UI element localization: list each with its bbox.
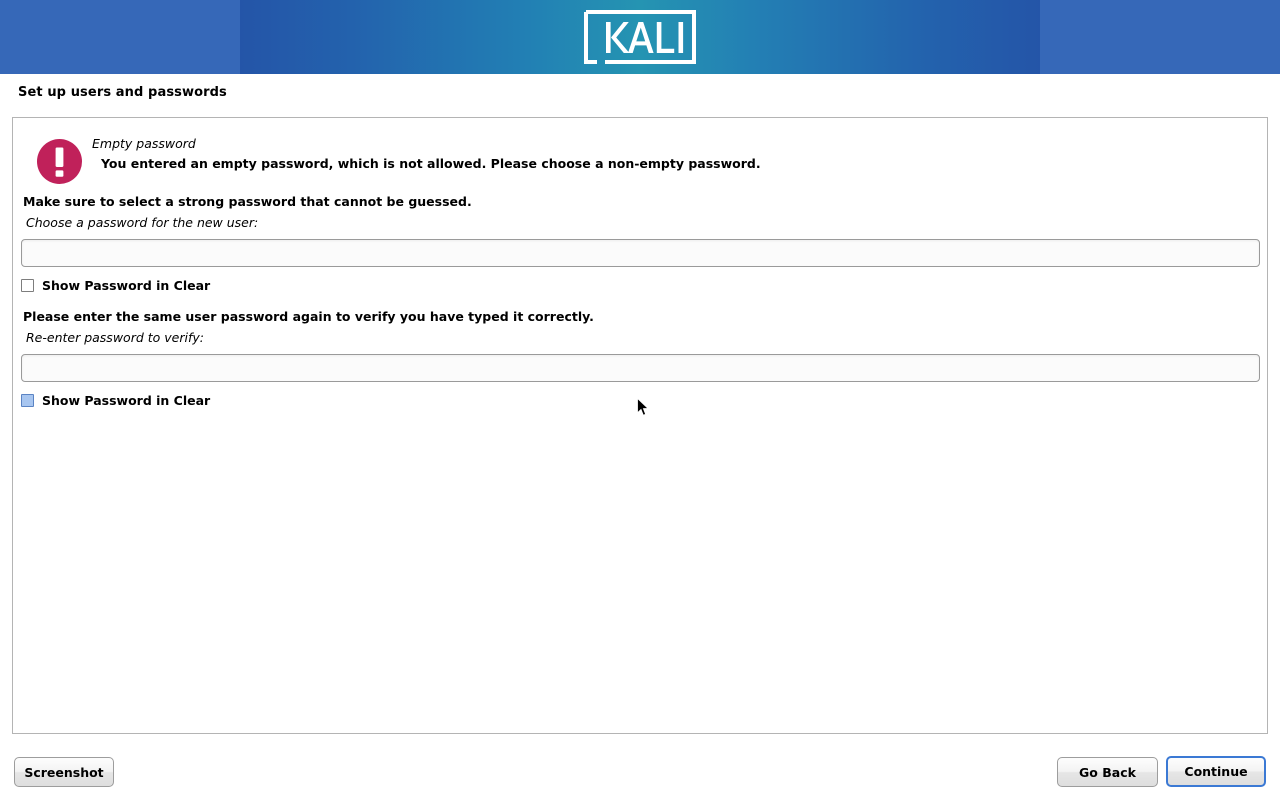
show-password-checkbox-2[interactable] <box>21 394 34 407</box>
show-password-checkbox-label-1: Show Password in Clear <box>42 278 210 293</box>
verify-password-hint: Please enter the same user password agai… <box>23 309 594 324</box>
password-strength-hint: Make sure to select a strong password th… <box>23 194 472 209</box>
show-password-checkbox-row-1[interactable]: Show Password in Clear <box>21 276 210 294</box>
empty-password-alert: Empty password You entered an empty pass… <box>23 127 1253 189</box>
verify-password-input[interactable] <box>21 354 1260 382</box>
verify-field-label: Re-enter password to verify: <box>26 330 204 345</box>
show-password-checkbox-1[interactable] <box>21 279 34 292</box>
password-field-label: Choose a password for the new user: <box>26 215 258 230</box>
screenshot-button[interactable]: Screenshot <box>14 757 114 787</box>
kali-banner <box>0 0 1280 74</box>
alert-title: Empty password <box>92 136 761 152</box>
installer-screen: Set up users and passwords Empty passwor… <box>0 0 1280 800</box>
alert-text-block: Empty password You entered an empty pass… <box>92 136 761 172</box>
page-title: Set up users and passwords <box>18 85 227 100</box>
installer-content-panel: Empty password You entered an empty pass… <box>12 117 1268 734</box>
alert-message: You entered an empty password, which is … <box>101 156 761 172</box>
continue-button[interactable]: Continue <box>1166 756 1266 787</box>
kali-logo-icon <box>583 9 697 65</box>
show-password-checkbox-label-2: Show Password in Clear <box>42 393 210 408</box>
password-input[interactable] <box>21 239 1260 267</box>
error-exclamation-icon <box>36 138 83 185</box>
show-password-checkbox-row-2[interactable]: Show Password in Clear <box>21 391 210 409</box>
go-back-button[interactable]: Go Back <box>1057 757 1158 787</box>
